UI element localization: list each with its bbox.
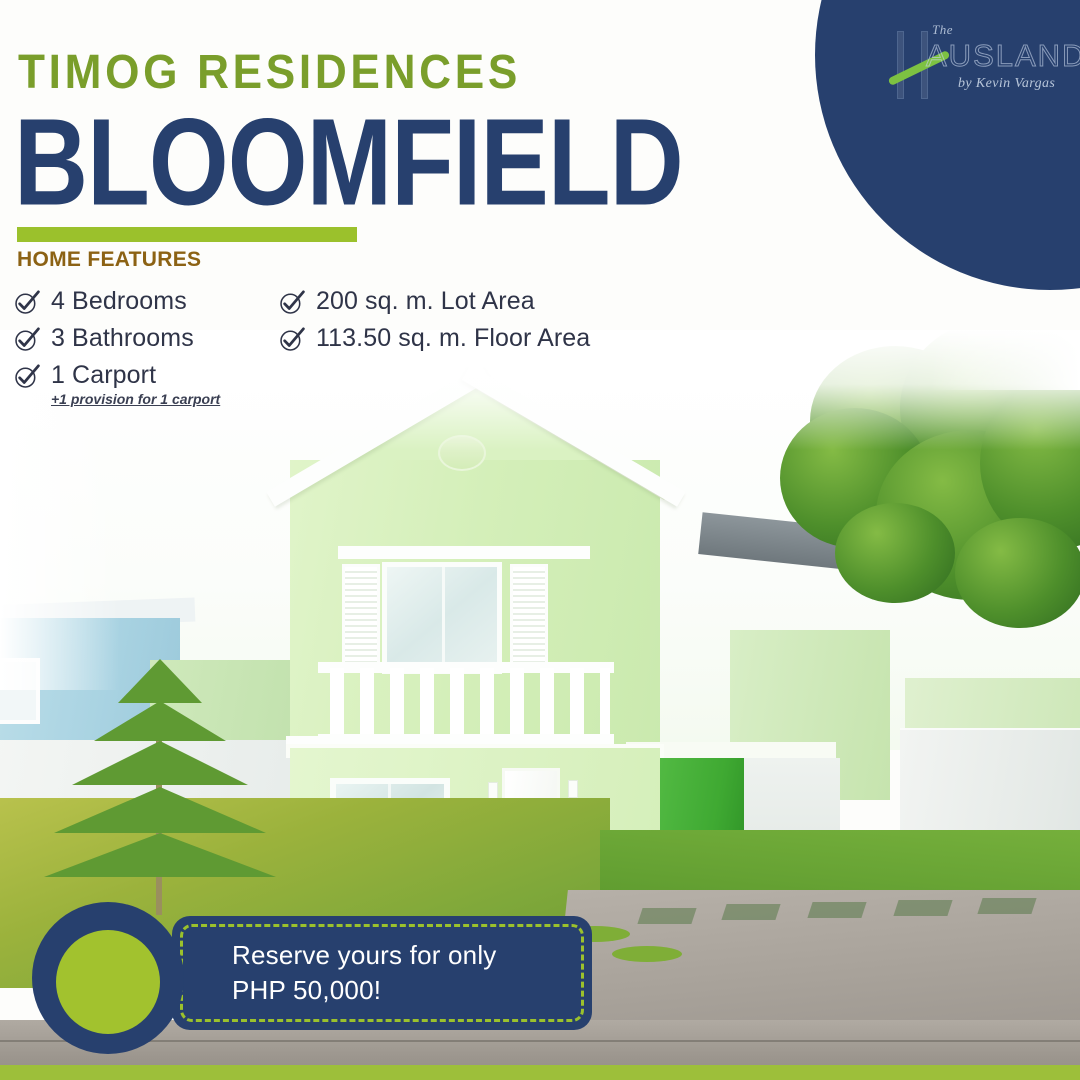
hauslands-logo[interactable]: The AUSLANDS by Kevin Vargas xyxy=(888,18,1068,112)
feature-item: 200 sq. m. Lot Area xyxy=(279,283,590,320)
logo-byline: by Kevin Vargas xyxy=(958,76,1055,92)
page-title: BLOOMFIELD xyxy=(14,101,683,224)
cta-circle-outer xyxy=(32,902,184,1054)
circle-check-icon xyxy=(14,289,40,315)
driveway-paver xyxy=(807,902,866,918)
feature-item: 3 Bathrooms xyxy=(14,320,220,357)
feature-note-carport: +1 provision for 1 carport xyxy=(51,391,220,407)
tree-foliage xyxy=(835,503,955,603)
feature-label: 4 Bedrooms xyxy=(51,287,187,316)
balcony-window xyxy=(382,562,502,674)
feature-item: 1 Carport xyxy=(14,357,220,394)
features-column-right: 200 sq. m. Lot Area 113.50 sq. m. Floor … xyxy=(279,283,590,357)
tree-foliage xyxy=(955,518,1080,628)
project-name: TIMOG RESIDENCES xyxy=(18,45,521,100)
cta-badge[interactable]: Reserve yours for only PHP 50,000! xyxy=(32,898,592,1058)
driveway-paver xyxy=(637,908,696,924)
balcony-window-header xyxy=(338,546,590,559)
feature-label: 1 Carport xyxy=(51,361,156,390)
pine-tier xyxy=(118,659,202,703)
feature-label: 200 sq. m. Lot Area xyxy=(316,287,535,316)
accent-bar xyxy=(17,227,357,242)
logo-wordmark: AUSLANDS xyxy=(926,38,1080,74)
circle-check-icon xyxy=(279,326,305,352)
cta-circle-inner xyxy=(56,930,160,1034)
balcony-shutter-left xyxy=(342,564,380,670)
pine-tier xyxy=(72,741,248,785)
pine-tier xyxy=(54,787,266,833)
grass-tuft xyxy=(612,946,682,962)
circle-check-icon xyxy=(14,326,40,352)
features-column-left: 4 Bedrooms 3 Bathrooms 1 Carport +1 prov… xyxy=(14,283,220,407)
driveway-paver xyxy=(721,904,780,920)
circle-check-icon xyxy=(279,289,305,315)
cta-line-1: Reserve yours for only xyxy=(232,938,572,973)
feature-item: 113.50 sq. m. Floor Area xyxy=(279,320,590,357)
balcony-shutter-right xyxy=(510,564,548,670)
balcony-balusters xyxy=(322,668,610,740)
section-label-home-features: HOME FEATURES xyxy=(17,248,201,272)
pine-tree xyxy=(40,615,280,915)
gable-vent xyxy=(438,435,486,471)
cta-text: Reserve yours for only PHP 50,000! xyxy=(232,938,572,1009)
monogram-bar-left xyxy=(898,32,903,98)
canopy-tree xyxy=(780,338,1080,638)
wall-lamp-right xyxy=(568,780,578,798)
feature-label: 3 Bathrooms xyxy=(51,324,194,353)
circle-check-icon xyxy=(14,363,40,389)
bottom-grass-strip xyxy=(0,1065,1080,1080)
feature-item: 4 Bedrooms xyxy=(14,283,220,320)
logo-the: The xyxy=(932,22,953,38)
feature-label: 113.50 sq. m. Floor Area xyxy=(316,324,590,353)
poster-canvas: The AUSLANDS by Kevin Vargas TIMOG RESID… xyxy=(0,0,1080,1080)
cta-line-2: PHP 50,000! xyxy=(232,973,572,1008)
pine-tier xyxy=(44,833,276,877)
pine-tier xyxy=(94,701,226,741)
driveway-paver xyxy=(977,898,1036,914)
driveway-paver xyxy=(893,900,952,916)
